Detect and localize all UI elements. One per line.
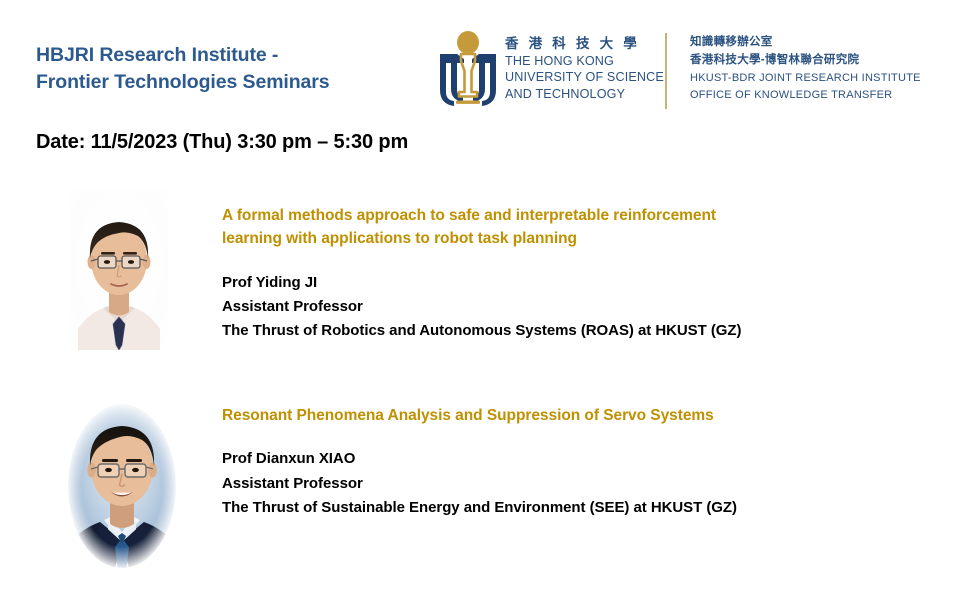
hkust-english-line-1: THE HONG KONG [505,53,664,69]
hkust-chinese-name: 香 港 科 技 大 學 [505,36,664,53]
page-title: HBJRI Research Institute - Frontier Tech… [36,42,426,96]
kt-english-name: HKUST-BDR JOINT RESEARCH INSTITUTE OFFIC… [690,70,921,106]
kt-chinese-line-1: 知識轉移辦公室 [690,34,921,52]
page-title-line-1: HBJRI Research Institute - [36,42,426,69]
speaker-name-1: Prof Yiding JI [222,271,922,295]
hkust-english-line-2: UNIVERSITY OF SCIENCE [505,69,664,85]
speaker-block-2: Resonant Phenomena Analysis and Suppress… [0,396,960,576]
talk-title-1-line-1: A formal methods approach to safe and in… [222,204,922,227]
speaker-rank-1: Assistant Professor [222,295,922,319]
speaker-affiliation-2: The Thrust of Sustainable Energy and Env… [222,496,922,520]
hkust-english-line-3: AND TECHNOLOGY [505,86,664,102]
hkust-wordmark: 香 港 科 技 大 學 THE HONG KONG UNIVERSITY OF … [505,30,664,102]
page-title-line-2: Frontier Technologies Seminars [36,69,426,96]
event-date: Date: 11/5/2023 (Thu) 3:30 pm – 5:30 pm [36,131,408,154]
talk-title-1: A formal methods approach to safe and in… [222,204,922,251]
speaker-meta-2: Prof Dianxun XIAO Assistant Professor Th… [222,447,922,520]
knowledge-transfer-lockup: 知識轉移辦公室 香港科技大學-博智林聯合研究院 HKUST-BDR JOINT … [690,34,921,105]
speaker-name-2: Prof Dianxun XIAO [222,447,922,471]
talk-title-2-line-1: Resonant Phenomena Analysis and Suppress… [222,404,922,427]
logo-divider [665,33,667,109]
kt-english-line-2: OFFICE OF KNOWLEDGE TRANSFER [690,87,921,105]
kt-english-line-1: HKUST-BDR JOINT RESEARCH INSTITUTE [690,70,921,88]
speaker-affiliation-1: The Thrust of Robotics and Autonomous Sy… [222,319,922,343]
speaker-block-1: A formal methods approach to safe and in… [0,186,960,361]
speaker-rank-2: Assistant Professor [222,472,922,496]
speaker-details-2: Resonant Phenomena Analysis and Suppress… [222,404,922,520]
hkust-crest-icon [437,30,499,108]
speaker-details-1: A formal methods approach to safe and in… [222,204,922,343]
hkust-english-name: THE HONG KONG UNIVERSITY OF SCIENCE AND … [505,53,664,102]
talk-title-1-line-2: learning with applications to robot task… [222,227,922,250]
kt-chinese-line-2: 香港科技大學-博智林聯合研究院 [690,52,921,70]
hkust-logo-lockup: 香 港 科 技 大 學 THE HONG KONG UNIVERSITY OF … [437,30,664,108]
speaker-photo-dianxun-xiao [58,400,186,572]
talk-title-2: Resonant Phenomena Analysis and Suppress… [222,404,922,427]
speaker-photo-yiding-ji [70,190,168,350]
speaker-meta-1: Prof Yiding JI Assistant Professor The T… [222,271,922,344]
page-header: HBJRI Research Institute - Frontier Tech… [0,0,960,125]
